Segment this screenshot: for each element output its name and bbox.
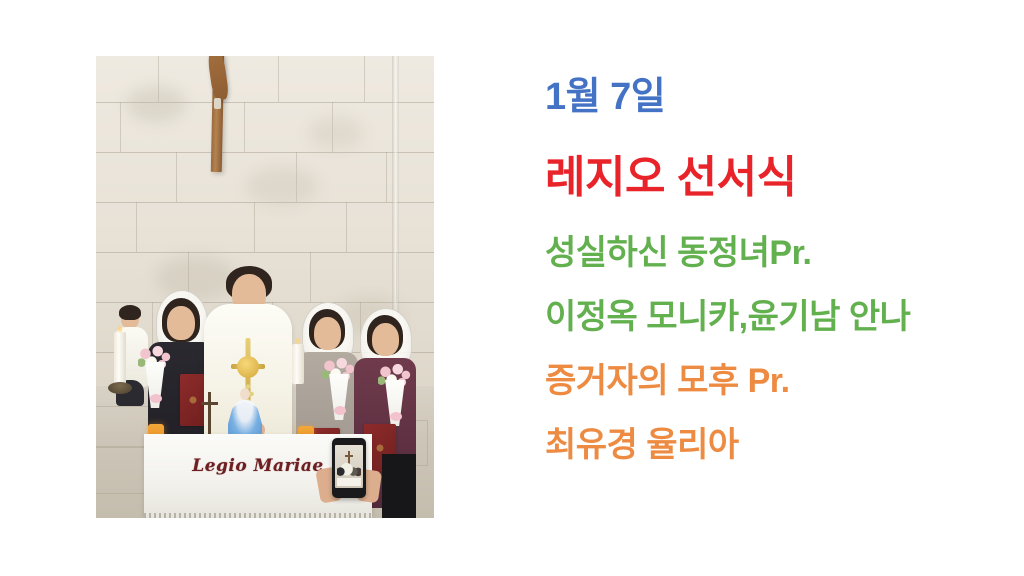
member-names-2: 최유경 율리아 [545,428,1005,462]
altar-candle-left [114,332,126,386]
event-title: 레지오 선서식 [545,156,1005,200]
member-names-1: 이정옥 모니카,윤기남 안나 [545,300,1005,334]
altar-candle-right [292,344,304,384]
slide-canvas: Legio Mariae 1월 7일 레지오 [0,0,1024,576]
praesidium-name-2: 증거자의 모후 Pr. [545,364,1005,398]
photo-content: Legio Mariae [96,56,434,518]
smartphone-screen [335,445,363,488]
background-person-right [382,454,416,518]
ceremony-photo: Legio Mariae [96,56,434,518]
praesidium-name-1: 성실하신 동정녀Pr. [545,236,1005,270]
event-date: 1월 7일 [545,78,1005,116]
smartphone-taking-photo [332,438,366,498]
announcement-text-panel: 1월 7일 레지오 선서식 성실하신 동정녀Pr. 이정옥 모니카,윤기남 안나… [545,78,1005,462]
altar-cloth-lace-trim [144,513,372,518]
photo-soft-edge-mask: Legio Mariae [96,56,434,518]
candle-holder-left [108,382,132,394]
bouquet-3 [382,364,416,424]
crucifix-icon [208,56,226,172]
